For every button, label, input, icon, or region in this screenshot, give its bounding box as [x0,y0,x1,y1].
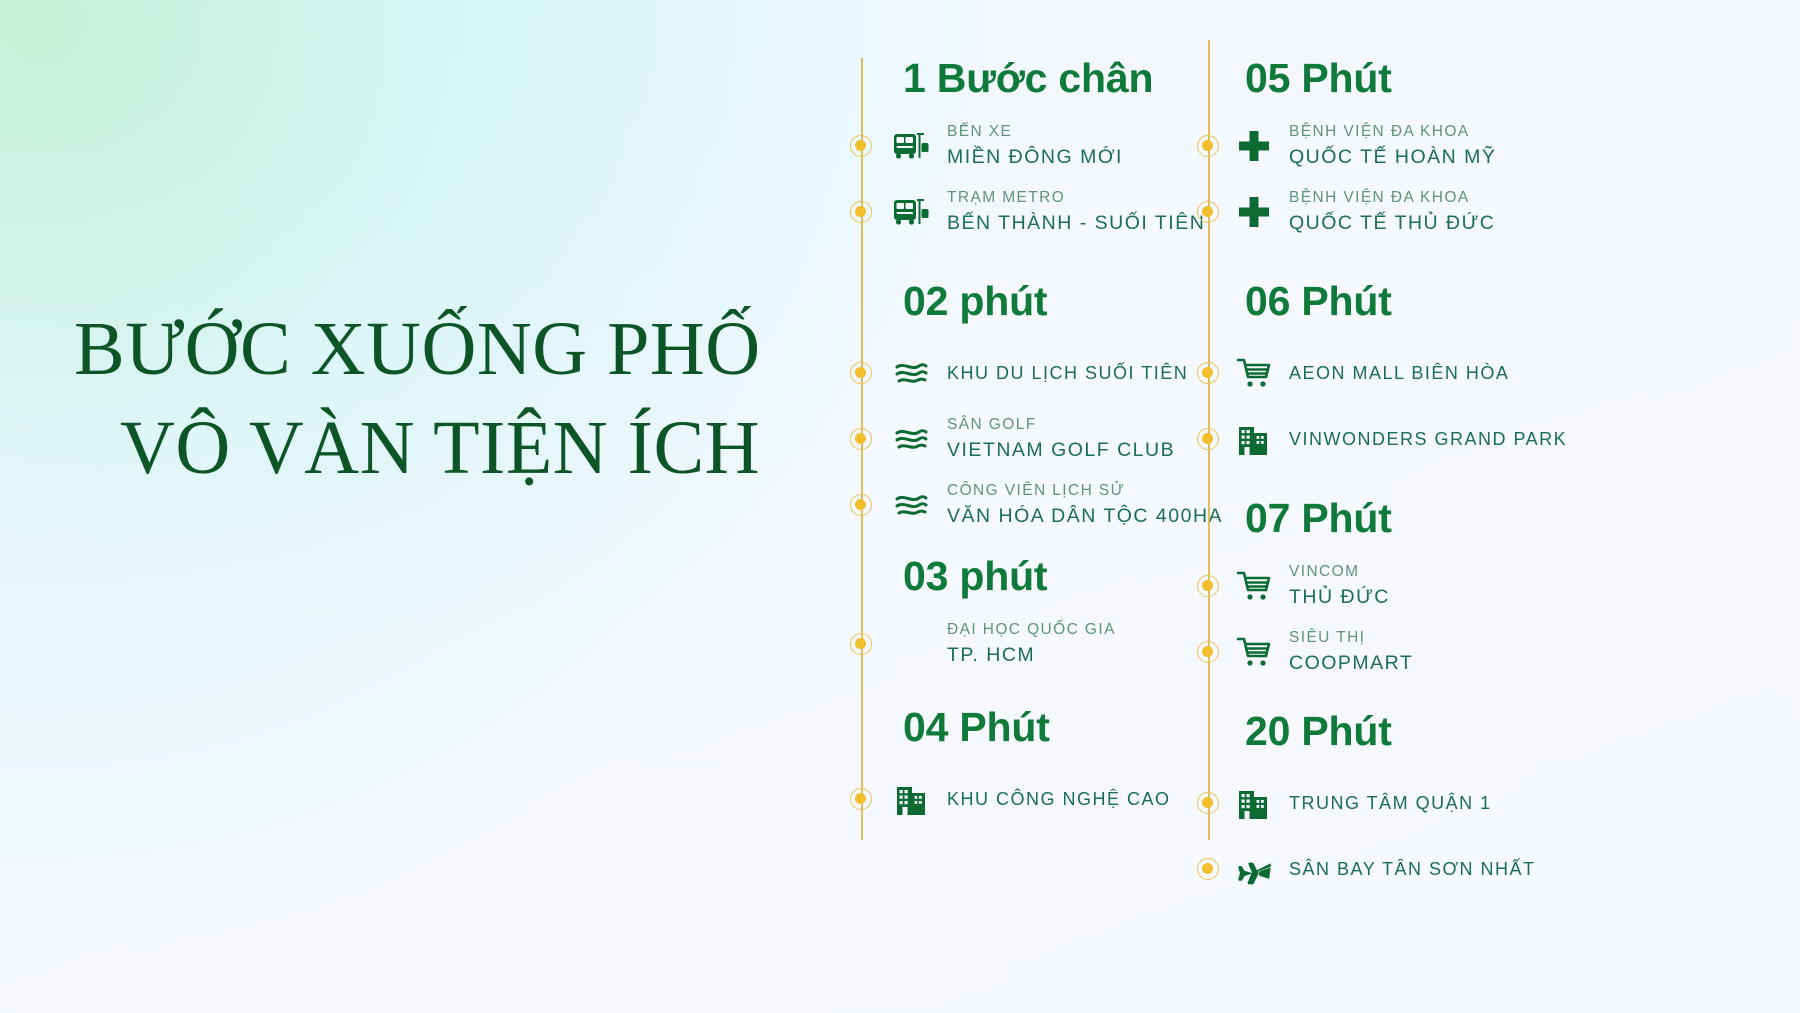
buildings-icon [1229,780,1279,826]
blank-icon [887,621,937,667]
timeline-item-labels: BỆNH VIỆN ĐA KHOA QUỐC TẾ THỦ ĐỨC [1279,187,1495,238]
timeline-group-time: 07 Phút [1192,498,1552,539]
timeline-item-main: THỦ ĐỨC [1289,583,1390,611]
timeline-item-sub: SÂN GOLF [947,414,1175,436]
timeline-item-labels: BẾN XE MIỀN ĐÔNG MỚI [937,121,1123,172]
timeline-item[interactable]: SÂN GOLF VIETNAM GOLF CLUB [845,410,1195,468]
timeline-item-main: VIETNAM GOLF CLUB [947,436,1175,464]
timeline-item-sub: BỆNH VIỆN ĐA KHOA [1289,187,1495,209]
timeline-item-labels: TRUNG TÂM QUẬN 1 [1279,790,1492,816]
bus-stop-icon [887,123,937,169]
timeline-item[interactable]: VINWONDERS GRAND PARK [1192,410,1552,468]
page-title: BƯỚC XUỐNG PHỐ VÔ VÀN TIỆN ÍCH [70,300,810,498]
timeline-item[interactable]: KHU CÔNG NGHỆ CAO [845,770,1195,828]
timeline-item-main: TP. HCM [947,641,1116,669]
timeline-group: 07 Phút VI [1192,498,1552,681]
timeline-group: 20 Phút [1192,711,1552,898]
timeline-item-labels: AEON MALL BIÊN HÒA [1279,360,1509,386]
shopping-cart-icon [1229,563,1279,609]
timeline-item-main: KHU CÔNG NGHỆ CAO [947,786,1171,812]
waves-icon [887,416,937,462]
timeline-group: 02 phút KHU DU LỊCH SUỐI TIÊN [845,281,1195,534]
timeline-column-right: 05 Phút BỆNH VIỆN ĐA KHOA QUỐC TẾ HOÀN M… [1192,0,1552,1013]
timeline-item-labels: SÂN BAY TÂN SƠN NHẤT [1279,856,1535,882]
timeline-item-sub: SIÊU THỊ [1289,627,1413,649]
timeline-item-sub: VINCOM [1289,561,1390,583]
timeline-item-sub: BỆNH VIỆN ĐA KHOA [1289,121,1496,143]
timeline-item-sub: CÔNG VIÊN LỊCH SỬ [947,480,1223,502]
timeline-item[interactable]: KHU DU LỊCH SUỐI TIÊN [845,344,1195,402]
timeline-item[interactable]: BỆNH VIỆN ĐA KHOA QUỐC TẾ THỦ ĐỨC [1192,183,1552,241]
waves-icon [887,350,937,396]
timeline-group-time: 02 phút [845,281,1195,322]
timeline-group: 06 Phút AE [1192,281,1552,468]
timeline-item-labels: ĐẠI HỌC QUỐC GIA TP. HCM [937,619,1116,670]
timeline-item-labels: KHU DU LỊCH SUỐI TIÊN [937,360,1188,386]
timeline-item[interactable]: TRUNG TÂM QUẬN 1 [1192,774,1552,832]
timeline-item-main: MIỀN ĐÔNG MỚI [947,143,1123,171]
timeline-item[interactable]: CÔNG VIÊN LỊCH SỬ VĂN HÓA DÂN TỘC 400HA [845,476,1195,534]
timeline-item-labels: KHU CÔNG NGHỆ CAO [937,786,1171,812]
timeline-item-labels: TRẠM METRO BẾN THÀNH - SUỐI TIÊN [937,187,1205,238]
timeline-item[interactable]: VINCOM THỦ ĐỨC [1192,557,1552,615]
timeline-group: 04 Phút [845,707,1195,828]
timeline-item[interactable]: SIÊU THỊ COOPMART [1192,623,1552,681]
timeline-item-sub: BẾN XE [947,121,1123,143]
waves-icon [887,482,937,528]
buildings-icon [1229,416,1279,462]
timeline-group: 1 Bước chân [845,58,1195,241]
headline-line-1: BƯỚC XUỐNG PHỐ [70,300,810,399]
timeline-group-time: 06 Phút [1192,281,1552,322]
buildings-icon [887,776,937,822]
timeline-item-sub: TRẠM METRO [947,187,1205,209]
timeline-group: 03 phút ĐẠI HỌC QUỐC GIA TP. HCM [845,556,1195,673]
timeline-item[interactable]: AEON MALL BIÊN HÒA [1192,344,1552,402]
timeline-item[interactable]: SÂN BAY TÂN SƠN NHẤT [1192,840,1552,898]
timeline-item-labels: VINWONDERS GRAND PARK [1279,426,1567,452]
timeline-item[interactable]: BẾN XE MIỀN ĐÔNG MỚI [845,117,1195,175]
medical-cross-icon [1229,189,1279,235]
bus-stop-icon [887,189,937,235]
timeline-item-main: VĂN HÓA DÂN TỘC 400HA [947,502,1223,530]
timeline-item-labels: SÂN GOLF VIETNAM GOLF CLUB [937,414,1175,465]
timeline-group-time: 1 Bước chân [845,58,1195,99]
timeline-item-main: QUỐC TẾ HOÀN MỸ [1289,143,1496,171]
timeline-group: 05 Phút BỆNH VIỆN ĐA KHOA QUỐC TẾ HOÀN M… [1192,58,1552,241]
timeline-group-time: 20 Phút [1192,711,1552,752]
timeline-group-time: 05 Phút [1192,58,1552,99]
headline-line-2: VÔ VÀN TIỆN ÍCH [70,399,810,498]
timeline-item-main: COOPMART [1289,649,1413,677]
shopping-cart-icon [1229,350,1279,396]
timeline-item-labels: VINCOM THỦ ĐỨC [1279,561,1390,612]
timeline-item[interactable]: TRẠM METRO BẾN THÀNH - SUỐI TIÊN [845,183,1195,241]
timeline-item-main: SÂN BAY TÂN SƠN NHẤT [1289,856,1535,882]
timeline-group-time: 03 phút [845,556,1195,597]
timeline-item-labels: BỆNH VIỆN ĐA KHOA QUỐC TẾ HOÀN MỸ [1279,121,1496,172]
timeline-item[interactable]: BỆNH VIỆN ĐA KHOA QUỐC TẾ HOÀN MỸ [1192,117,1552,175]
timeline-item-main: AEON MALL BIÊN HÒA [1289,360,1509,386]
timeline-item-main: KHU DU LỊCH SUỐI TIÊN [947,360,1188,386]
timeline-group-time: 04 Phút [845,707,1195,748]
timeline-item-main: TRUNG TÂM QUẬN 1 [1289,790,1492,816]
timeline-item-main: BẾN THÀNH - SUỐI TIÊN [947,209,1205,237]
timeline-item-main: VINWONDERS GRAND PARK [1289,426,1567,452]
timeline-item-main: QUỐC TẾ THỦ ĐỨC [1289,209,1495,237]
timeline-item-labels: CÔNG VIÊN LỊCH SỬ VĂN HÓA DÂN TỘC 400HA [937,480,1223,531]
shopping-cart-icon [1229,629,1279,675]
slide-canvas: BƯỚC XUỐNG PHỐ VÔ VÀN TIỆN ÍCH 1 Bước ch… [0,0,1800,1013]
timeline-item-sub: ĐẠI HỌC QUỐC GIA [947,619,1116,641]
timeline-item-labels: SIÊU THỊ COOPMART [1279,627,1413,678]
medical-cross-icon [1229,123,1279,169]
timeline-item[interactable]: ĐẠI HỌC QUỐC GIA TP. HCM [845,615,1195,673]
airplane-icon [1229,846,1279,892]
timeline-column-left: 1 Bước chân [845,0,1195,1013]
